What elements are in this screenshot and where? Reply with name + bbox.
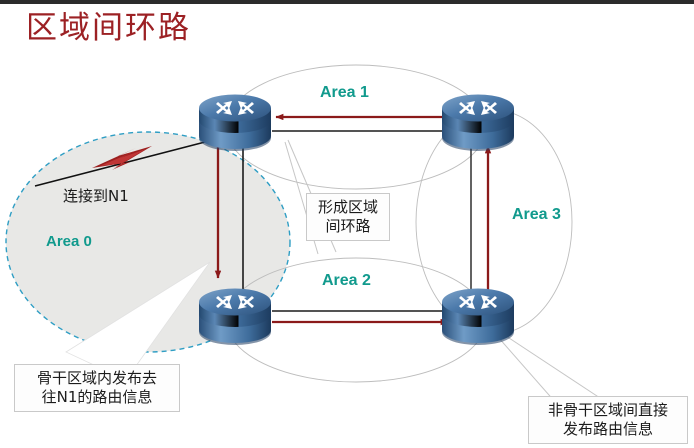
nonbackbone-callout-leader-a (498, 337, 556, 403)
callout-nonbackbone-advertise: 非骨干区域间直接 发布路由信息 (528, 396, 688, 444)
router-top-left-graphic (199, 95, 271, 152)
callout-inter-area-loop-line1: 形成区域 (314, 198, 382, 217)
callout-nonbackbone-advertise-line1: 非骨干区域间直接 (536, 401, 680, 420)
router-bottom-right-graphic (442, 289, 514, 346)
callout-backbone-advertise-line1: 骨干区域内发布去 (22, 369, 172, 388)
area-label-area0: Area 0 (46, 233, 92, 250)
area-label-area1: Area 1 (320, 84, 369, 102)
router-top-right-graphic (442, 95, 514, 152)
area-label-area3: Area 3 (512, 206, 561, 224)
callout-backbone-advertise: 骨干区域内发布去 往N1的路由信息 (14, 364, 180, 412)
area-label-area2: Area 2 (322, 272, 371, 290)
callout-nonbackbone-advertise-line2: 发布路由信息 (536, 420, 680, 439)
callout-inter-area-loop: 形成区域 间环路 (306, 193, 390, 241)
slide-canvas: 区域间环路 (0, 0, 694, 448)
callout-inter-area-loop-line2: 间环路 (314, 217, 382, 236)
router-bottom-left-graphic (199, 289, 271, 346)
link-to-n1-label: 连接到N1 (63, 185, 129, 206)
nonbackbone-callout-leader-b (506, 336, 600, 398)
callout-backbone-advertise-line2: 往N1的路由信息 (22, 388, 172, 407)
